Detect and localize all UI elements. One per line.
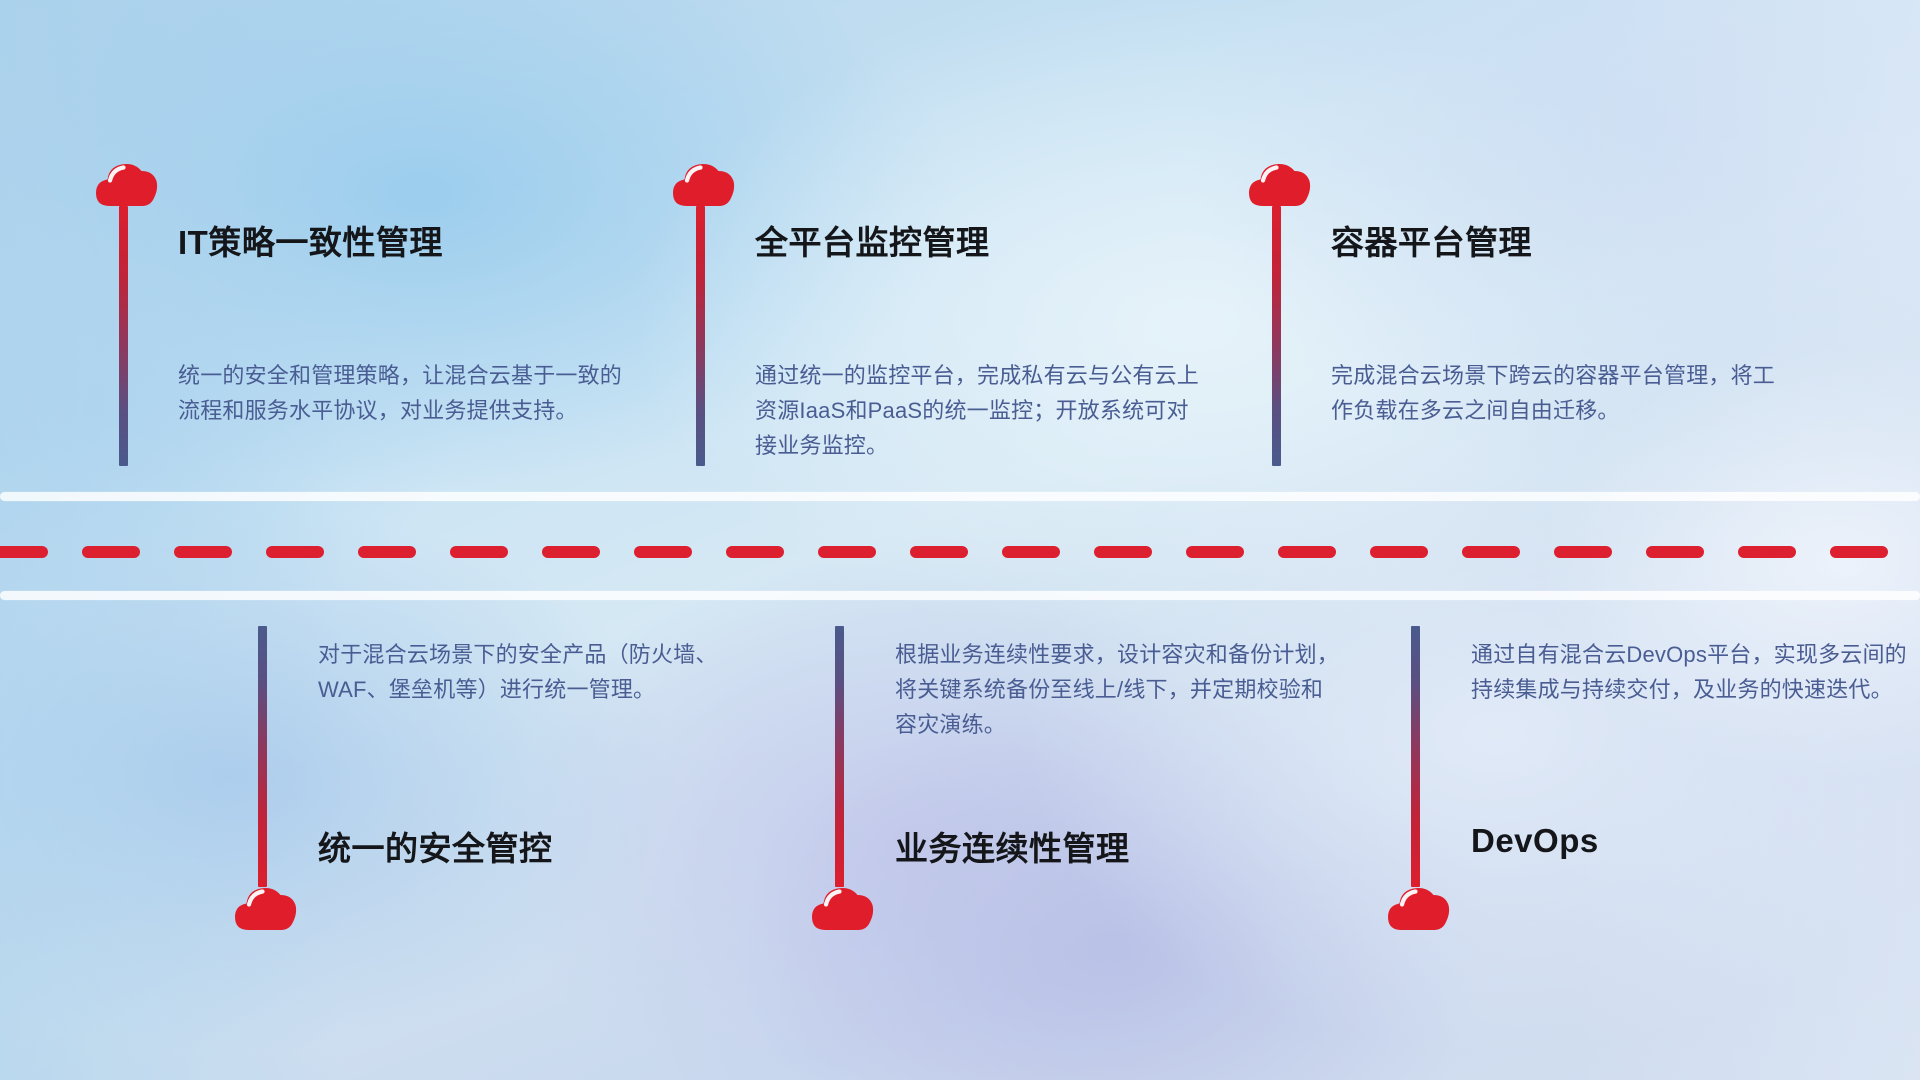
cloud-icon	[673, 160, 735, 206]
divider-dash	[174, 546, 232, 558]
divider-dash	[1738, 546, 1796, 558]
divider-dash	[1554, 546, 1612, 558]
cloud-icon	[1388, 884, 1450, 930]
node-description: 完成混合云场景下跨云的容器平台管理，将工作负载在多云之间自由迁移。	[1331, 358, 1781, 428]
divider-dash	[726, 546, 784, 558]
divider-rule-top	[0, 492, 1920, 501]
divider-dash	[1462, 546, 1520, 558]
connector-stem	[119, 206, 128, 466]
cloud-icon	[235, 884, 297, 930]
node-description: 通过自有混合云DevOps平台，实现多云间的持续集成与持续交付，及业务的快速迭代…	[1471, 637, 1920, 707]
node-heading: 业务连续性管理	[895, 822, 1130, 870]
node-description: 对于混合云场景下的安全产品（防火墙、WAF、堡垒机等）进行统一管理。	[318, 637, 768, 707]
node-heading: 统一的安全管控	[318, 822, 553, 870]
cloud-icon	[812, 884, 874, 930]
node-description: 根据业务连续性要求，设计容灾和备份计划，将关键系统备份至线上/线下，并定期校验和…	[895, 637, 1345, 742]
divider-dash	[1094, 546, 1152, 558]
divider-rule-bottom	[0, 591, 1920, 600]
node-heading: 全平台监控管理	[755, 216, 990, 264]
divider-dash	[818, 546, 876, 558]
node-description: 统一的安全和管理策略，让混合云基于一致的流程和服务水平协议，对业务提供支持。	[178, 358, 628, 428]
divider-dash	[82, 546, 140, 558]
divider-dash	[450, 546, 508, 558]
divider-dash	[1002, 546, 1060, 558]
connector-stem	[258, 626, 267, 887]
divider-dash	[1186, 546, 1244, 558]
cloud-icon	[96, 160, 158, 206]
connector-stem	[1272, 206, 1281, 466]
divider-dash	[634, 546, 692, 558]
node-heading: 容器平台管理	[1331, 216, 1532, 264]
node-heading: IT策略一致性管理	[178, 216, 443, 264]
divider-dash	[910, 546, 968, 558]
divider-dash	[358, 546, 416, 558]
node-description: 通过统一的监控平台，完成私有云与公有云上资源IaaS和PaaS的统一监控；开放系…	[755, 358, 1205, 463]
node-heading: DevOps	[1471, 822, 1599, 860]
connector-stem	[696, 206, 705, 466]
divider-dash	[1830, 546, 1888, 558]
divider-dash	[266, 546, 324, 558]
divider-dash	[1278, 546, 1336, 558]
cloud-icon	[1249, 160, 1311, 206]
divider-dash	[1370, 546, 1428, 558]
connector-stem	[1411, 626, 1420, 887]
divider-rule-dashed	[0, 546, 1920, 558]
infographic-canvas: IT策略一致性管理 统一的安全和管理策略，让混合云基于一致的流程和服务水平协议，…	[0, 0, 1920, 1080]
divider-dash	[542, 546, 600, 558]
connector-stem	[835, 626, 844, 887]
divider-dash	[0, 546, 48, 558]
divider-dash	[1646, 546, 1704, 558]
